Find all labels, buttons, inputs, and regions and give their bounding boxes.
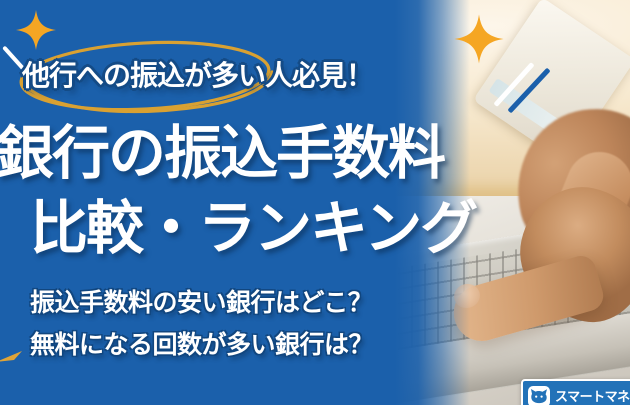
logo-label: スマートマネー	[555, 390, 630, 403]
subtitle-line-1: 振込手数料の安い銀行はどこ？	[30, 283, 500, 319]
cat-mascot-icon	[528, 386, 550, 405]
gold-arrow-icon	[0, 350, 22, 362]
site-logo[interactable]: スマートマネー	[521, 379, 630, 405]
headline-line-1: 銀行の振込手数料	[0, 123, 536, 184]
subtitle-line-2: 無料になる回数が多い銀行は？	[30, 325, 500, 361]
banner-root: 他行への振込が多い人必見！ 銀行の振込手数料 比較・ランキング 振込手数料の安い…	[0, 0, 630, 405]
kicker-text: 他行への振込が多い人必見！	[22, 54, 492, 94]
headline-line-2: 比較・ランキング	[30, 198, 570, 259]
